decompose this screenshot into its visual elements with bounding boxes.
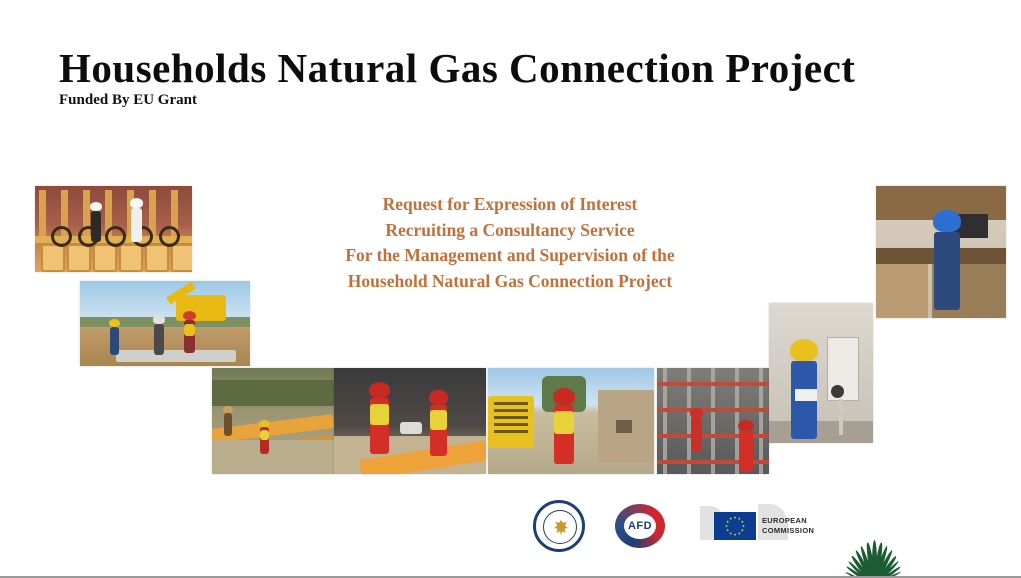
afd-logo: AFD bbox=[615, 504, 665, 548]
photo-scene bbox=[876, 186, 1006, 318]
worker-body bbox=[691, 418, 702, 452]
announcement-line-2: Recruiting a Consultancy Service bbox=[250, 218, 770, 244]
meter-dial bbox=[831, 385, 844, 398]
vent-slat bbox=[494, 423, 528, 426]
vertical-pipe bbox=[39, 190, 46, 238]
valve-body bbox=[145, 244, 169, 272]
hard-hat-icon bbox=[90, 202, 102, 211]
photo-scene bbox=[80, 281, 250, 366]
european-commission-logo: EUROPEAN COMMISSION bbox=[700, 500, 790, 548]
valve-body bbox=[67, 244, 91, 272]
valve-body bbox=[41, 244, 65, 272]
valve-body bbox=[93, 244, 117, 272]
hard-hat-icon bbox=[429, 390, 448, 405]
eu-star-icon bbox=[741, 520, 744, 523]
valve-body bbox=[171, 244, 192, 272]
worker-body bbox=[739, 431, 753, 472]
gas-plant-valves-photo bbox=[35, 186, 192, 272]
hard-hat-icon bbox=[130, 198, 143, 208]
vent-slat bbox=[494, 409, 528, 412]
valve-wheel bbox=[159, 226, 180, 247]
eu-star-icon bbox=[738, 532, 741, 535]
eu-stars bbox=[714, 512, 756, 540]
hard-hat-icon bbox=[933, 210, 961, 232]
announcement-line-1: Request for Expression of Interest bbox=[250, 192, 770, 218]
laid-pipe bbox=[116, 350, 236, 362]
announcement-line-4: Household Natural Gas Connection Project bbox=[250, 269, 770, 295]
eu-star-icon bbox=[726, 529, 729, 532]
eu-star-icon bbox=[734, 533, 737, 536]
pipe-welding-crew-photo bbox=[334, 368, 486, 474]
ec-line-2: COMMISSION bbox=[762, 526, 814, 536]
eu-star-icon bbox=[738, 517, 741, 520]
eu-star-icon bbox=[729, 517, 732, 520]
seal-inner-ring bbox=[543, 510, 577, 544]
egas-logo: EGAS bbox=[842, 540, 906, 578]
worker-vest bbox=[110, 330, 119, 341]
hard-hat-icon bbox=[109, 319, 120, 327]
worker-vest bbox=[554, 411, 574, 434]
eu-star-icon bbox=[729, 532, 732, 535]
indoor-kitchen-install-photo bbox=[876, 186, 1006, 318]
eu-star-icon bbox=[725, 525, 728, 528]
trench-spoil bbox=[212, 440, 334, 474]
photo-scene bbox=[769, 303, 873, 443]
vent-slat bbox=[494, 416, 528, 419]
ec-line-1: EUROPEAN bbox=[762, 516, 814, 526]
announcement-block: Request for Expression of Interest Recru… bbox=[250, 192, 770, 294]
page-subtitle: Funded By EU Grant bbox=[59, 92, 197, 109]
floor bbox=[769, 421, 873, 443]
valve-wheel bbox=[51, 226, 72, 247]
eu-star-icon bbox=[726, 520, 729, 523]
page-title: Households Natural Gas Connection Projec… bbox=[59, 44, 855, 92]
hard-hat-icon bbox=[790, 339, 818, 361]
meter-pipe bbox=[839, 399, 843, 435]
worker-vest bbox=[370, 404, 389, 426]
photo-scene bbox=[35, 186, 192, 272]
hard-hat-icon bbox=[183, 311, 196, 320]
worker-body bbox=[91, 211, 101, 242]
photo-scene bbox=[212, 368, 334, 474]
eu-star-icon bbox=[741, 529, 744, 532]
valve-wheel bbox=[105, 226, 126, 247]
hard-hat-icon bbox=[738, 420, 754, 431]
street-works-worker-photo bbox=[488, 368, 654, 474]
pipe-laying-trench-photo bbox=[212, 368, 334, 474]
window bbox=[616, 420, 632, 433]
worker-vest bbox=[260, 430, 269, 440]
photo-scene bbox=[657, 368, 769, 474]
eu-star-icon bbox=[742, 525, 745, 528]
presentation-slide: Households Natural Gas Connection Projec… bbox=[0, 0, 1021, 578]
hard-hat-icon bbox=[369, 382, 390, 398]
photo-scene bbox=[334, 368, 486, 474]
european-commission-label: EUROPEAN COMMISSION bbox=[762, 516, 814, 535]
uniform-patch bbox=[795, 389, 817, 401]
photo-scene bbox=[488, 368, 654, 474]
worker-body bbox=[131, 208, 142, 242]
gas-meter-install-photo bbox=[769, 303, 873, 443]
eu-flag-icon bbox=[714, 512, 756, 540]
hard-hat-icon bbox=[223, 406, 233, 413]
egas-flame-icon bbox=[848, 540, 900, 578]
hard-hat-icon bbox=[153, 315, 165, 324]
afd-label: AFD bbox=[624, 513, 656, 539]
afd-ring-icon: AFD bbox=[615, 504, 665, 548]
foliage bbox=[212, 380, 334, 406]
worker-body bbox=[154, 324, 164, 355]
announcement-line-3: For the Management and Supervision of th… bbox=[250, 243, 770, 269]
trench-excavation-photo bbox=[80, 281, 250, 366]
worker-vest bbox=[430, 410, 447, 430]
partner-logo-row: AFD EUROPEAN COMMISSION EGAS GASREG Gas … bbox=[515, 492, 1015, 562]
lower-cabinet bbox=[876, 264, 928, 318]
eagle-emblem-icon bbox=[553, 520, 569, 537]
worker-vest bbox=[184, 324, 195, 337]
worker-body bbox=[934, 232, 960, 310]
eu-star-icon bbox=[734, 516, 737, 519]
scaffold-ledger bbox=[657, 408, 769, 412]
scaffold-riser-photo bbox=[657, 368, 769, 474]
scaffold-ledger bbox=[657, 382, 769, 386]
worker-body bbox=[224, 413, 232, 436]
hard-hat-icon bbox=[553, 388, 575, 405]
valve-body bbox=[119, 244, 143, 272]
seal-ring bbox=[533, 500, 585, 552]
hard-hat-icon bbox=[259, 420, 270, 427]
hard-hat-icon bbox=[690, 408, 703, 418]
egypt-government-seal-logo bbox=[533, 500, 585, 552]
vent-slat bbox=[494, 402, 528, 405]
vent-slat bbox=[494, 430, 528, 433]
pipe-coupling bbox=[400, 422, 422, 434]
